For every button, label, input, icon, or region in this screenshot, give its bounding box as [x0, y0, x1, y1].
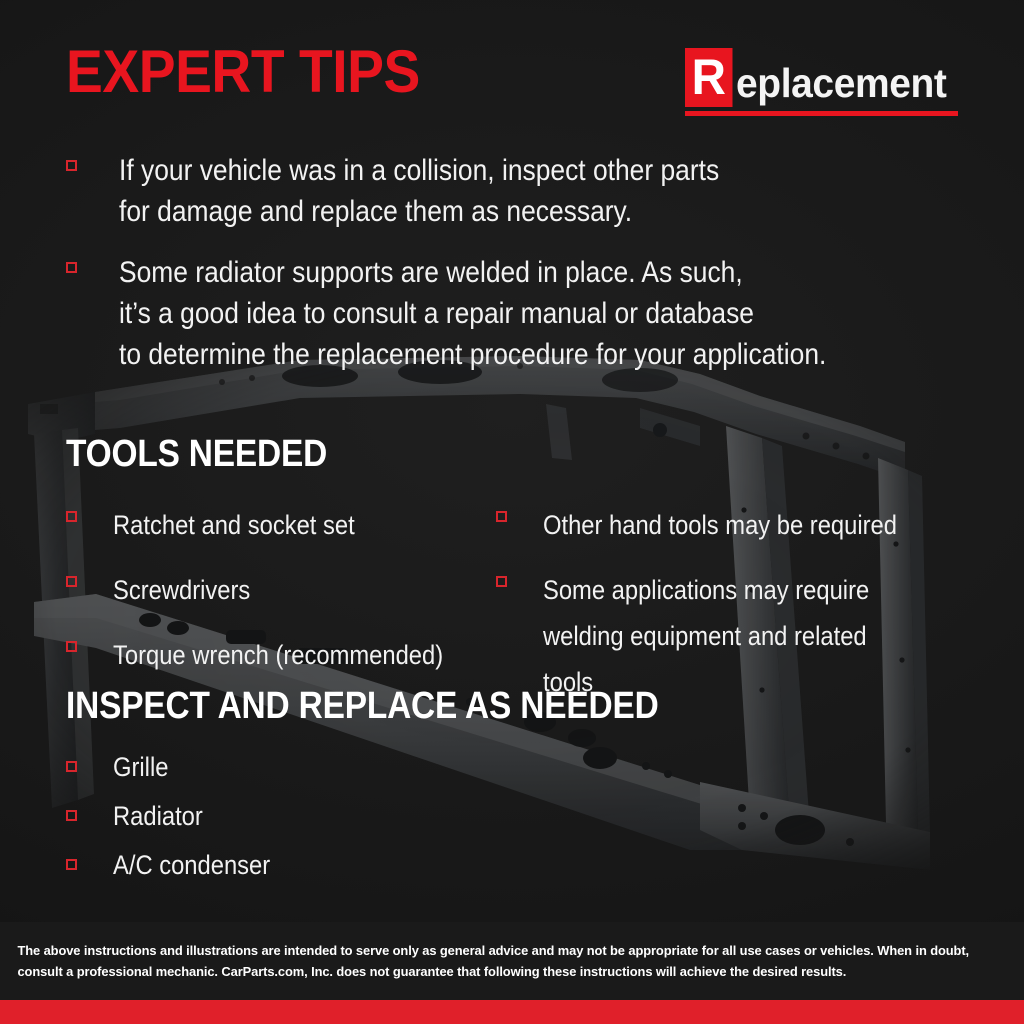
- tool-text: Screwdrivers: [113, 567, 250, 613]
- square-bullet-icon: [66, 160, 77, 171]
- inspect-replace-list: Grille Radiator A/C condenser: [66, 752, 566, 899]
- list-item: Grille: [66, 752, 566, 782]
- square-bullet-icon: [66, 511, 77, 522]
- replacement-logo: R eplacement: [685, 48, 958, 116]
- footer-accent-bar: [0, 1000, 1024, 1024]
- expert-tips-card: EXPERT TIPS R eplacement If your vehicle…: [0, 0, 1024, 1024]
- tools-needed-heading: TOOLS NEEDED: [66, 434, 327, 474]
- list-item: Some radiator supports are welded in pla…: [66, 252, 966, 375]
- list-item: If your vehicle was in a collision, insp…: [66, 150, 966, 232]
- square-bullet-icon: [496, 511, 507, 522]
- list-item: A/C condenser: [66, 850, 566, 880]
- tool-text: Other hand tools may be required: [543, 502, 897, 548]
- footer-disclaimer: The above instructions and illustrations…: [0, 922, 1024, 1000]
- logo-underline: [685, 111, 958, 116]
- list-item: Screwdrivers: [66, 567, 496, 613]
- tip-text: Some radiator supports are welded in pla…: [119, 252, 826, 375]
- tool-text: Torque wrench (recommended): [113, 632, 443, 678]
- square-bullet-icon: [66, 576, 77, 587]
- logo-initial: R: [685, 48, 733, 107]
- inspect-text: A/C condenser: [113, 850, 270, 880]
- square-bullet-icon: [66, 761, 77, 772]
- logo-wordmark: R eplacement: [685, 48, 958, 107]
- square-bullet-icon: [66, 859, 77, 870]
- list-item: Radiator: [66, 801, 566, 831]
- tip-text: If your vehicle was in a collision, insp…: [119, 150, 719, 232]
- card-header: EXPERT TIPS R eplacement: [0, 0, 1024, 130]
- square-bullet-icon: [66, 641, 77, 652]
- inspect-replace-heading: INSPECT AND REPLACE AS NEEDED: [66, 686, 659, 726]
- inspect-text: Grille: [113, 752, 168, 782]
- disclaimer-text: The above instructions and illustrations…: [0, 940, 993, 982]
- tool-text: Ratchet and socket set: [113, 502, 355, 548]
- expert-tips-list: If your vehicle was in a collision, insp…: [66, 150, 966, 395]
- inspect-text: Radiator: [113, 801, 203, 831]
- list-item: Other hand tools may be required: [496, 502, 966, 548]
- square-bullet-icon: [496, 576, 507, 587]
- square-bullet-icon: [66, 810, 77, 821]
- logo-rest: eplacement: [736, 63, 947, 104]
- list-item: Ratchet and socket set: [66, 502, 496, 548]
- square-bullet-icon: [66, 262, 77, 273]
- list-item: Torque wrench (recommended): [66, 632, 496, 678]
- page-title: EXPERT TIPS: [66, 42, 420, 102]
